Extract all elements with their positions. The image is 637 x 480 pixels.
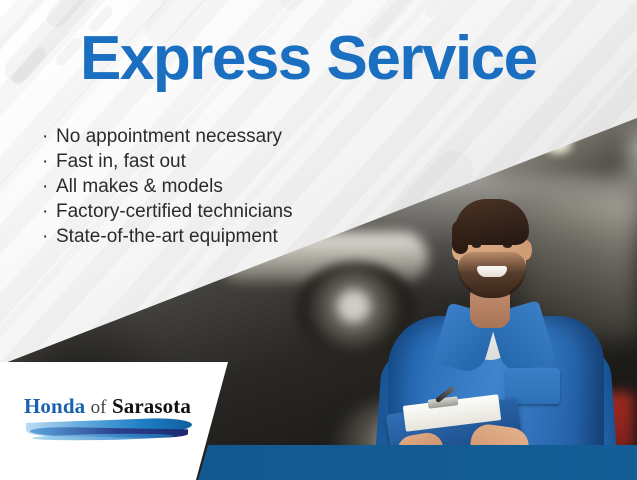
logo-brand: Honda bbox=[24, 394, 85, 418]
bullet-icon: · bbox=[42, 124, 56, 149]
list-item: ·Fast in, fast out bbox=[42, 149, 293, 174]
mechanic-smile bbox=[477, 266, 507, 277]
decorative-stripe bbox=[275, 0, 392, 14]
list-item-label: Factory-certified technicians bbox=[56, 201, 293, 222]
express-service-banner: Express Service ·No appointment necessar… bbox=[0, 0, 637, 480]
mechanic-hair-sideburn bbox=[452, 220, 468, 254]
list-item-label: All makes & models bbox=[56, 176, 223, 197]
logo-location: Sarasota bbox=[112, 394, 191, 418]
list-item-label: Fast in, fast out bbox=[56, 151, 186, 172]
list-item: ·All makes & models bbox=[42, 174, 293, 199]
dealership-logo: Honda of Sarasota bbox=[24, 394, 191, 419]
logo-connector: of bbox=[91, 397, 107, 418]
bullet-icon: · bbox=[42, 149, 56, 174]
page-title: Express Service bbox=[80, 28, 537, 90]
list-item: ·State-of-the-art equipment bbox=[42, 224, 293, 249]
bullet-icon: · bbox=[42, 224, 56, 249]
feature-list: ·No appointment necessary ·Fast in, fast… bbox=[42, 124, 293, 249]
list-item: ·No appointment necessary bbox=[42, 124, 293, 149]
bullet-icon: · bbox=[42, 174, 56, 199]
list-item-label: No appointment necessary bbox=[56, 126, 282, 147]
bullet-icon: · bbox=[42, 199, 56, 224]
list-item-label: State-of-the-art equipment bbox=[56, 226, 278, 247]
list-item: ·Factory-certified technicians bbox=[42, 199, 293, 224]
decorative-stripe bbox=[423, 0, 461, 20]
